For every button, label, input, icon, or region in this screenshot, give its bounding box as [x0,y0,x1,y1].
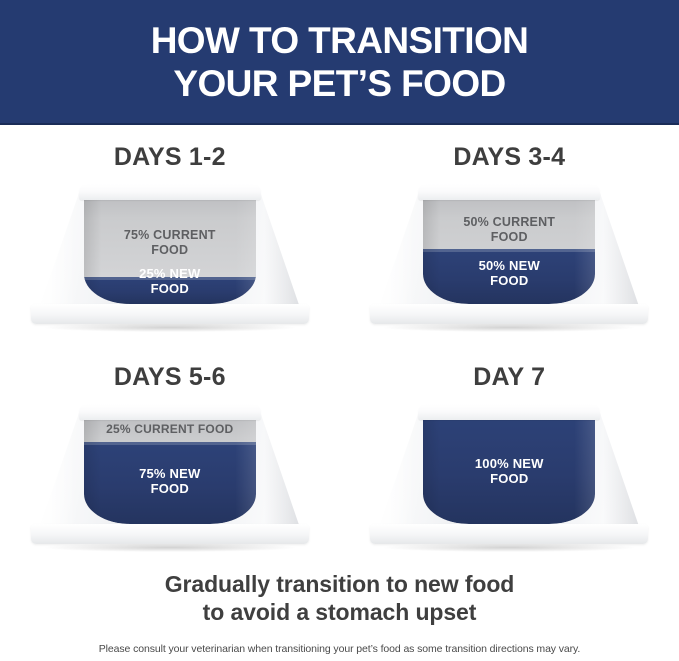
step-panel-day-7: DAY 7 100% NEW FOOD [340,345,679,565]
current-food-label: 50% CURRENT FOOD [423,215,595,245]
new-food-label-line1: 75% NEW [84,466,256,481]
bowl-base [31,524,309,544]
new-food-label-line2: FOOD [84,281,256,296]
step-title-day-7: DAY 7 [473,363,545,392]
new-food-label: 100% NEW FOOD [423,456,595,486]
bowl-day-7: 100% NEW FOOD [378,402,640,554]
bowl-shadow [45,543,295,552]
new-food-label-line2: FOOD [84,481,256,496]
step-panel-days-1-2: DAYS 1-2 75% CURRENT FOOD 25% NEW FOOD [0,125,340,345]
current-food-label-line1: 50% CURRENT [423,215,595,230]
bowl-base [31,304,309,324]
bowl-rim [79,404,261,420]
bowl-rim [418,404,600,420]
bowl-shadow [384,323,634,332]
new-food-label: 75% NEW FOOD [84,466,256,496]
footer: Gradually transition to new food to avoi… [0,570,679,656]
new-food-label: 50% NEW FOOD [423,258,595,288]
step-panel-days-3-4: DAYS 3-4 50% CURRENT FOOD 50% NEW FOOD [340,125,679,345]
header-title-line2: YOUR PET’S FOOD [173,62,505,105]
step-title-days-1-2: DAYS 1-2 [114,143,226,172]
new-food-label-line1: 25% NEW [84,266,256,281]
bowl-rim [79,184,261,200]
bowl-shadow [384,543,634,552]
footer-disclaimer: Please consult your veterinarian when tr… [0,643,679,656]
current-food-label-line2: FOOD [423,230,595,245]
new-food-label-line2: FOOD [423,273,595,288]
bowl-days-1-2: 75% CURRENT FOOD 25% NEW FOOD [39,182,301,334]
new-food-label-line2: FOOD [423,471,595,486]
bowl-base [370,304,648,324]
bowl-cavity: 100% NEW FOOD [423,414,595,524]
bowl-cavity: 50% CURRENT FOOD 50% NEW FOOD [423,194,595,304]
new-food-label: 25% NEW FOOD [84,266,256,296]
step-title-days-5-6: DAYS 5-6 [114,363,226,392]
current-food-label: 75% CURRENT FOOD [84,228,256,258]
current-food-label-line1: 25% CURRENT FOOD [84,422,256,437]
steps-grid: DAYS 1-2 75% CURRENT FOOD 25% NEW FOOD [0,125,679,565]
new-food-label-line1: 50% NEW [423,258,595,273]
footer-headline-line1: Gradually transition to new food [0,570,679,598]
footer-headline-line2: to avoid a stomach upset [0,598,679,626]
new-food-label-line1: 100% NEW [423,456,595,471]
current-food-label-line2: FOOD [84,243,256,258]
header-title-line1: HOW TO TRANSITION [151,19,529,62]
bowl-days-5-6: 25% CURRENT FOOD 75% NEW FOOD [39,402,301,554]
bowl-cavity: 75% CURRENT FOOD 25% NEW FOOD [84,194,256,304]
header-banner: HOW TO TRANSITION YOUR PET’S FOOD [0,0,679,125]
step-panel-days-5-6: DAYS 5-6 25% CURRENT FOOD 75% NEW FOOD [0,345,340,565]
bowl-shadow [45,323,295,332]
bowl-cavity: 25% CURRENT FOOD 75% NEW FOOD [84,414,256,524]
bowl-base [370,524,648,544]
current-food-label-line1: 75% CURRENT [84,228,256,243]
current-food-label: 25% CURRENT FOOD [84,422,256,437]
bowl-days-3-4: 50% CURRENT FOOD 50% NEW FOOD [378,182,640,334]
bowl-rim [418,184,600,200]
infographic-page: HOW TO TRANSITION YOUR PET’S FOOD DAYS 1… [0,0,679,661]
step-title-days-3-4: DAYS 3-4 [453,143,565,172]
